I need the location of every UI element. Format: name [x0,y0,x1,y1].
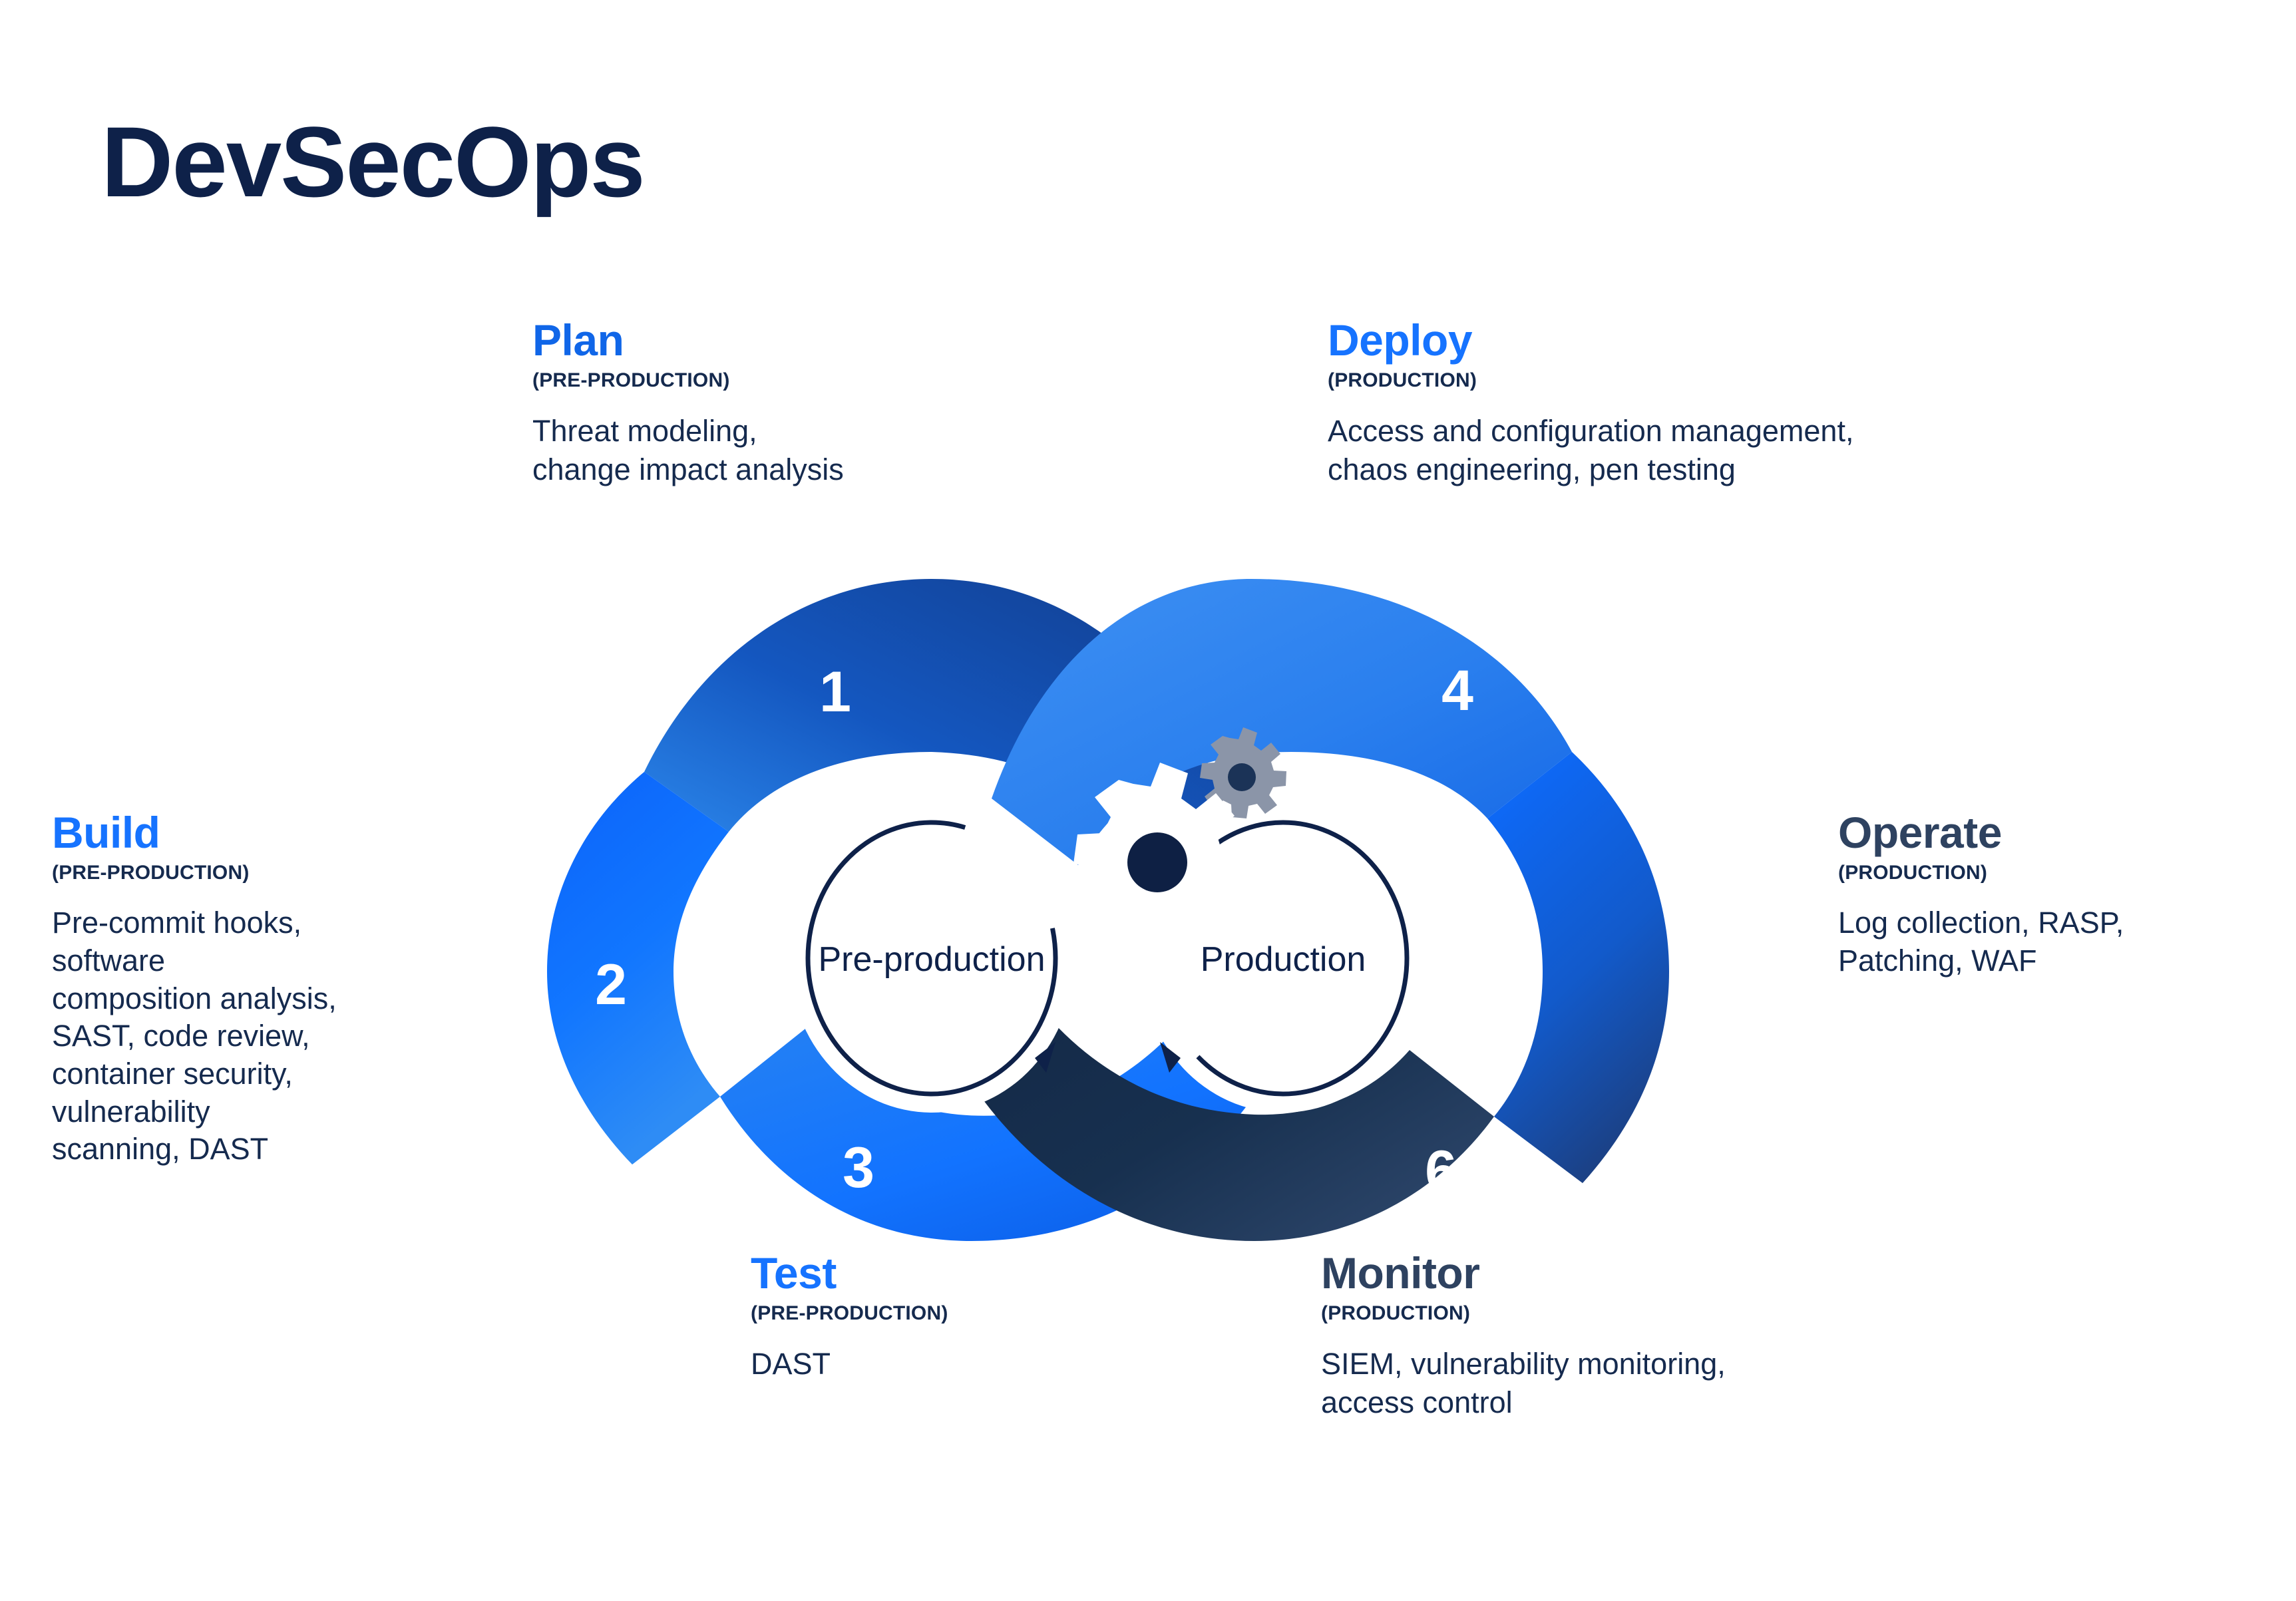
hub-left: Pre-production [789,804,1074,1113]
stage-description-deploy: Access and configuration management, cha… [1328,412,2219,488]
stage-environment-test: (PRE-PRODUCTION) [751,1302,1163,1325]
stage-environment-plan: (PRE-PRODUCTION) [532,369,1078,392]
stage-block-deploy: Deploy (PRODUCTION) Access and configura… [1328,318,2219,489]
infinity-loop-diagram: Pre-production Production 1 2 3 4 5 6 [466,552,1750,1258]
stage-description-build: Pre-commit hooks, software composition a… [52,904,518,1168]
loop-number-2: 2 [595,953,627,1017]
stage-description-monitor: SIEM, vulnerability monitoring, access c… [1321,1345,2026,1421]
loop-segment-5[interactable] [1487,752,1669,1183]
stage-environment-build: (PRE-PRODUCTION) [52,862,518,884]
stage-environment-operate: (PRODUCTION) [1838,862,2277,884]
loop-number-5: 5 [1684,953,1716,1017]
stage-block-test: Test (PRE-PRODUCTION) DAST [751,1251,1163,1383]
stage-heading-operate: Operate [1838,810,2277,855]
loop-number-3: 3 [843,1136,874,1200]
page-title: DevSecOps [101,112,644,212]
stage-heading-monitor: Monitor [1321,1251,2026,1296]
hub-right-label: Production [1201,940,1366,979]
stage-environment-monitor: (PRODUCTION) [1321,1302,2026,1325]
loop-number-6: 6 [1425,1139,1457,1203]
stage-environment-deploy: (PRODUCTION) [1328,369,2219,392]
stage-heading-build: Build [52,810,518,855]
stage-block-operate: Operate (PRODUCTION) Log collection, RAS… [1838,810,2277,980]
loop-number-4: 4 [1441,659,1473,723]
stage-heading-test: Test [751,1251,1163,1296]
stage-block-plan: Plan (PRE-PRODUCTION) Threat modeling, c… [532,318,1078,489]
hub-left-label: Pre-production [818,940,1045,979]
stage-description-test: DAST [751,1345,1163,1383]
loop-segment-2[interactable] [547,772,729,1164]
stage-description-plan: Threat modeling, change impact analysis [532,412,1078,488]
stage-heading-plan: Plan [532,318,1078,363]
stage-block-monitor: Monitor (PRODUCTION) SIEM, vulnerability… [1321,1251,2026,1422]
stage-heading-deploy: Deploy [1328,318,2219,363]
loop-number-1: 1 [819,660,851,724]
stage-block-build: Build (PRE-PRODUCTION) Pre-commit hooks,… [52,810,518,1168]
stage-description-operate: Log collection, RASP, Patching, WAF [1838,904,2277,979]
